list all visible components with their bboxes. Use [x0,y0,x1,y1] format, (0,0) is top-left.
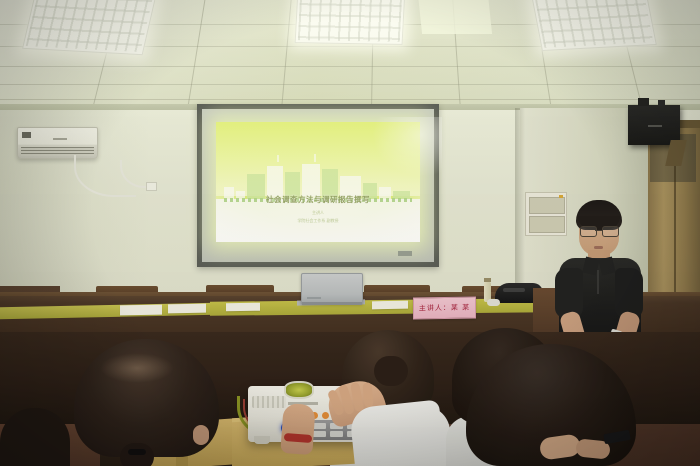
ceiling-light-panel [531,0,657,51]
screen-surface: 社会调查方法与调研报告撰写 主讲人 学院社会工作系 副教授 [202,109,434,262]
projector-vent [252,396,286,408]
operator-sleeve [349,399,445,466]
slide-subtitle-2: 学院社会工作系 副教授 [216,218,420,224]
laptop[interactable] [301,273,363,304]
paper-sheet [226,303,260,312]
slide-title: 社会调查方法与调研报告撰写 [216,194,420,205]
glasses-icon [579,226,619,236]
presenter-mouth [594,246,603,249]
presenter-sleeve [555,268,583,318]
wall-socket-upper [146,182,157,191]
projector-foot [254,436,270,444]
photograph-scene: 社会调查方法与调研报告撰写 主讲人 学院社会工作系 副教授 [0,0,700,466]
wall-speaker [628,105,680,145]
projector-lens [284,381,314,399]
presenter-sleeve [615,268,643,318]
paper-sheet [120,305,162,316]
paper-sheet [168,304,206,314]
speaker-name-card: 主讲人：某 某 [413,296,476,319]
projector-indicator-led [322,412,329,419]
ceiling-grid-line [0,66,700,67]
ceiling-grid-line [0,99,700,100]
ceiling-grid-line [0,84,700,85]
audience-member [0,408,70,466]
screen-glare [372,117,442,177]
audience-member [74,339,219,466]
screen-logo-mark [398,251,412,256]
operator-hand-pressing [280,403,315,455]
projection-screen: 社会调查方法与调研报告撰写 主讲人 学院社会工作系 副教授 [197,104,439,267]
presenter-placket [597,270,599,294]
ceiling-light-glow [418,0,492,34]
ceiling [0,0,700,112]
computer-mouse[interactable] [487,299,500,306]
ceiling-light-panel [22,0,156,55]
paper-sheet [372,301,408,310]
ceiling-light-panel [295,0,406,45]
name-card-text: 主讲人：某 某 [414,297,475,318]
slide-subtitle-1: 主讲人 [216,210,420,216]
